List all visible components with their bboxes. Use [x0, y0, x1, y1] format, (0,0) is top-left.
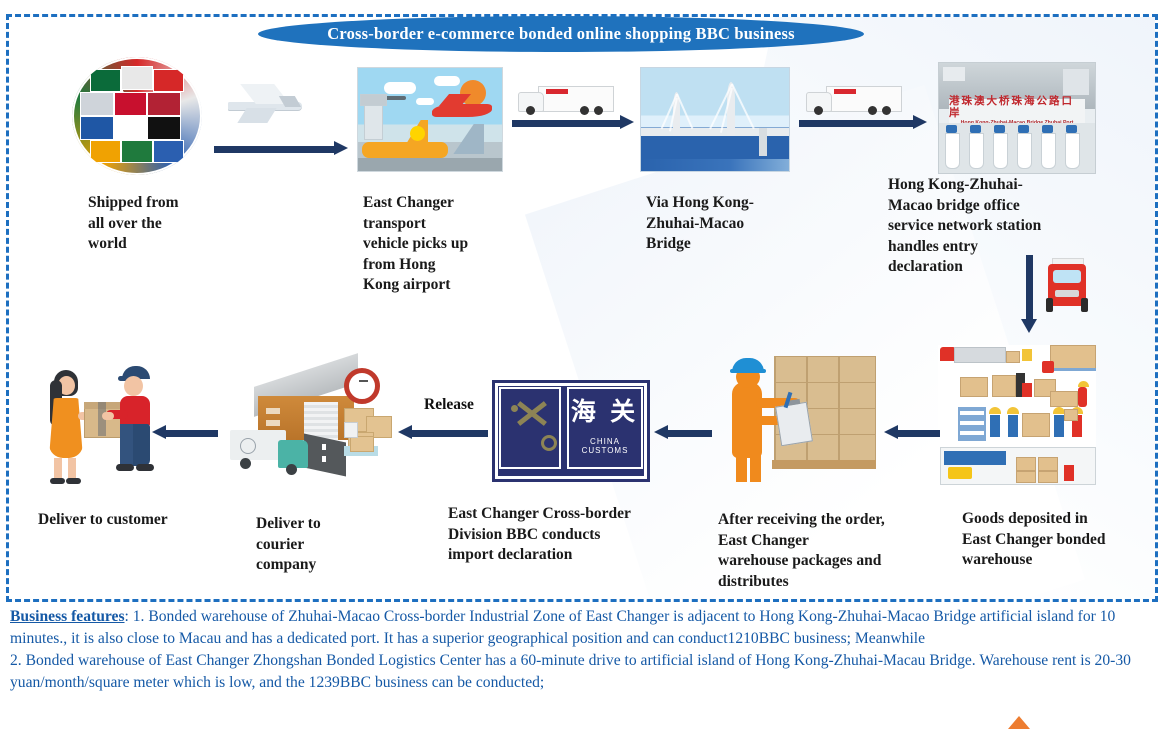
airport-planes-image [357, 67, 503, 172]
white-truck-icon-1 [518, 86, 612, 120]
red-truck-front-icon [1046, 258, 1088, 316]
step-label-courier: Deliver to courier company [256, 514, 406, 576]
step-label-airport: East Changer transport vehicle picks up … [363, 193, 523, 296]
step-label-warehouse: Goods deposited in East Changer bonded w… [962, 509, 1162, 571]
step-label-picking: After receiving the order, East Changer … [718, 510, 954, 592]
customs-plaque-english: CHINA CUSTOMS [569, 437, 641, 455]
arrow-courier-to-customer [152, 428, 218, 439]
port-sign-chinese: 港珠澳大桥珠海公路口岸 [949, 96, 1085, 120]
world-globe-flags-image [72, 57, 202, 175]
footer-paragraph-1: Business features: 1. Bonded warehouse o… [10, 606, 1166, 650]
arrow-customs-to-courier [398, 428, 488, 439]
business-features-text-1: : 1. Bonded warehouse of Zhuhai-Macao Cr… [10, 608, 1115, 647]
step-label-bridge: Via Hong Kong- Zhuhai-Macao Bridge [646, 193, 826, 255]
arrow-picking-to-customs [654, 428, 712, 439]
step-label-customs: East Changer Cross-border Division BBC c… [448, 504, 698, 566]
courier-handing-parcel-image [36, 358, 156, 488]
step-label-world: Shipped from all over the world [88, 193, 248, 255]
worker-pallet-clipboard-image [716, 352, 882, 484]
diagram-title-banner: Cross-border e-commerce bonded online sh… [258, 16, 864, 52]
airplane-icon [222, 82, 306, 128]
china-customs-plaque-image: 海 关 CHINA CUSTOMS [492, 380, 650, 482]
diagram-title-text: Cross-border e-commerce bonded online sh… [327, 24, 794, 44]
warehouse-logistics-collage-image [938, 345, 1096, 483]
orange-triangle-marker [1008, 716, 1030, 729]
arrow-label-release: Release [424, 396, 474, 414]
step-label-customer: Deliver to customer [38, 510, 248, 531]
slide-canvas: Cross-border e-commerce bonded online sh… [0, 0, 1172, 731]
zhuhai-port-checkpoint-image: 港珠澳大桥珠海公路口岸 Hong Kong-Zhuhai-Macao Bridg… [938, 62, 1096, 174]
customs-plaque-chinese: 海 关 [569, 399, 641, 427]
white-truck-icon-2 [806, 86, 900, 120]
business-features-block: Business features: 1. Bonded warehouse o… [10, 606, 1166, 695]
arrow-world-to-airport [214, 144, 348, 155]
hzmb-bridge-image [640, 67, 790, 172]
arrow-warehouse-to-picking [884, 428, 940, 439]
business-features-heading: Business features [10, 608, 125, 625]
warehouse-van-dispatch-image [226, 360, 396, 484]
business-features-text-2: 2. Bonded warehouse of East Changer Zhon… [10, 650, 1166, 694]
